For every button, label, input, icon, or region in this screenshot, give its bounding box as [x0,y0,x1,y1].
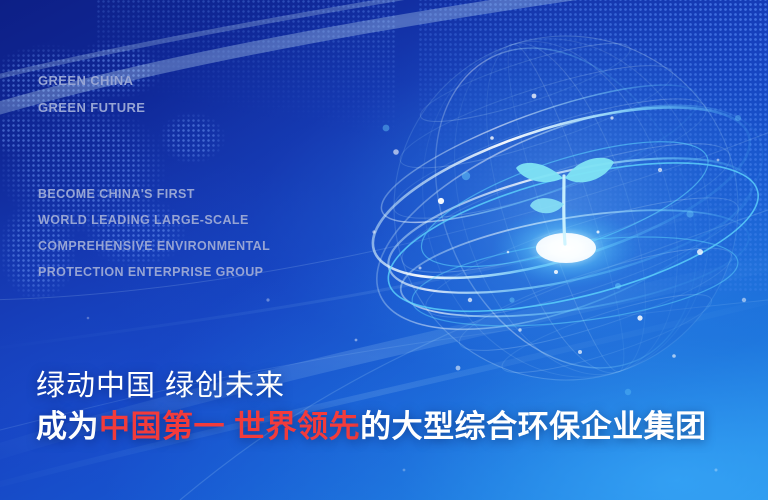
headline-prefix: 成为 [36,409,99,444]
mission-line-3: COMPREHENSIVE ENVIRONMENTAL [38,233,270,259]
tagline-line-1: GREEN CHINA [38,67,145,94]
halftone-dot-matrix-icon [418,0,768,292]
sprout-seedling-icon [516,158,614,244]
headline-suffix: 的大型综合环保企业集团 [360,409,707,444]
english-mission-statement: BECOME CHINA'S FIRST WORLD LEADING LARGE… [38,181,270,285]
headline-line-1: 绿动中国 绿创未来 [36,366,707,406]
english-tagline: GREEN CHINA GREEN FUTURE [38,67,145,121]
headline-accent: 中国第一 世界领先 [99,409,360,444]
page-title: 绿动中国 绿创未来 成为中国第一 世界领先的大型综合环保企业集团 [36,366,707,448]
tagline-line-2: GREEN FUTURE [38,94,145,121]
headline-line-2: 成为中国第一 世界领先的大型综合环保企业集团 [36,406,707,448]
mission-line-1: BECOME CHINA'S FIRST [38,181,270,207]
hero-banner: GREEN CHINA GREEN FUTURE BECOME CHINA'S … [0,0,768,500]
mission-line-2: WORLD LEADING LARGE-SCALE [38,207,270,233]
mission-line-4: PROTECTION ENTERPRISE GROUP [38,259,270,285]
